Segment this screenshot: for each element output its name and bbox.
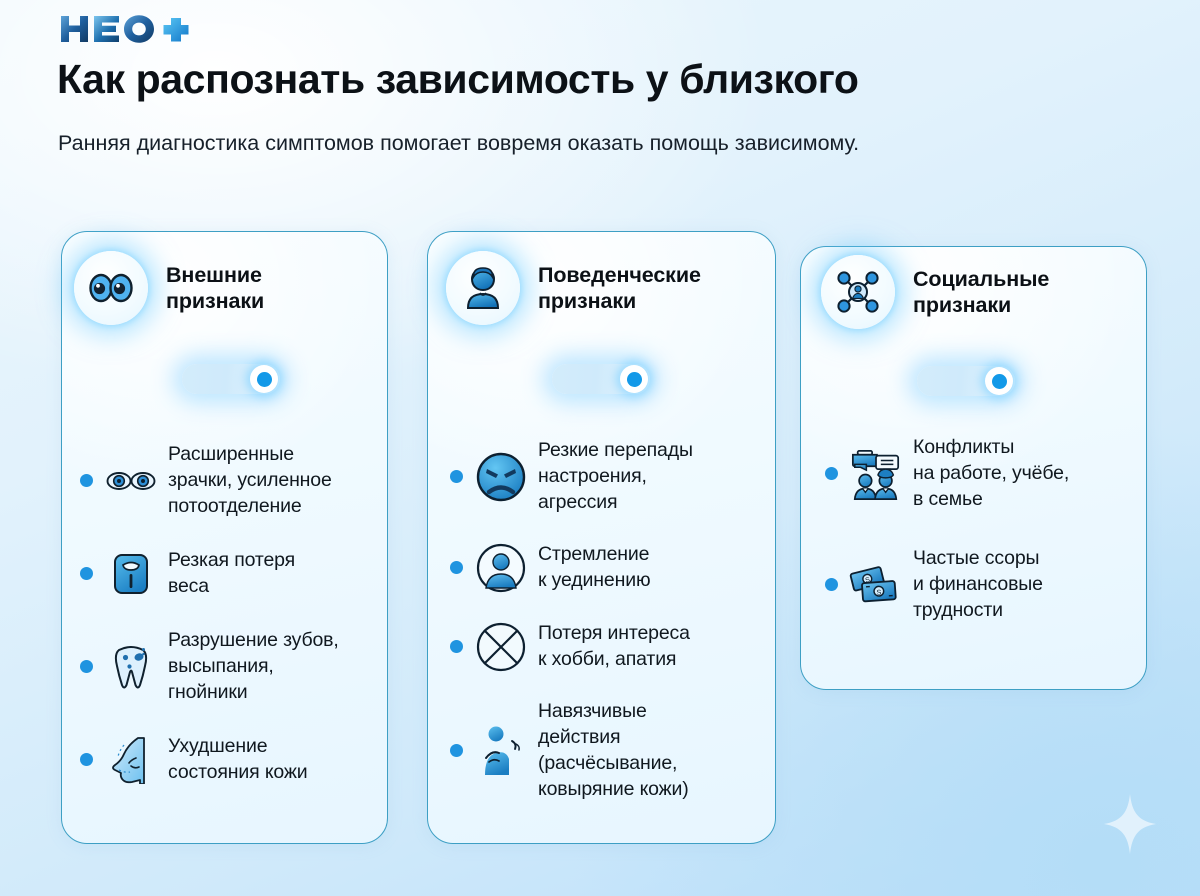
card-header: Внешние признаки: [74, 251, 264, 325]
list-item-text: Разрушение зубов, высыпания, гнойники: [168, 628, 339, 706]
card-external-signs: Внешние признаки Расширенные зрачки, уси…: [61, 231, 388, 844]
bullet-dot: [80, 660, 93, 673]
brand-logo: [59, 14, 195, 44]
svg-text:S: S: [876, 588, 882, 596]
list-item-text: Стремление к уединению: [538, 542, 650, 594]
card-header: Поведенческие признаки: [446, 251, 701, 325]
bullet-dot: [450, 640, 463, 653]
toggle-social-signs[interactable]: [917, 366, 1015, 396]
card-behavioral-signs: Поведенческие признаки Резкие перепады н…: [427, 231, 776, 844]
tooth-decay-icon: [104, 640, 158, 694]
toggle-knob: [620, 365, 648, 393]
list-item: S S Частые ссоры и финансовые трудности: [801, 546, 1146, 624]
list-item-text: Потеря интереса к хобби, апатия: [538, 621, 690, 673]
eyes-icon: [74, 251, 148, 325]
four-point-star-icon: [1102, 792, 1158, 861]
face-skin-icon: [104, 733, 158, 787]
list-item: Ухудшение состояния кожи: [62, 733, 387, 787]
page-title: Как распознать зависимость у близкого: [57, 57, 1147, 103]
list-item: Навязчивые действия (расчёсывание, ковыр…: [428, 699, 775, 803]
bullet-dot: [825, 467, 838, 480]
symptom-list: Резкие перепады настроения, агрессия Стр…: [428, 438, 775, 827]
list-item-text: Расширенные зрачки, усиленное потоотделе…: [168, 442, 332, 520]
list-item: Стремление к уединению: [428, 541, 775, 595]
card-header: Социальные признаки: [821, 255, 1049, 329]
bullet-dot: [80, 753, 93, 766]
person-avatar-icon: [446, 251, 520, 325]
list-item-text: Частые ссоры и финансовые трудности: [913, 546, 1043, 624]
card-title: Поведенческие признаки: [538, 262, 701, 314]
symptom-list: Расширенные зрачки, усиленное потоотделе…: [62, 442, 387, 814]
person-circle-icon: [474, 541, 528, 595]
card-title: Социальные признаки: [913, 266, 1049, 318]
bullet-dot: [450, 561, 463, 574]
toggle-behavioral-signs[interactable]: [552, 364, 650, 394]
workplace-conflict-icon: [849, 447, 903, 501]
bullet-dot: [450, 470, 463, 483]
list-item-text: Резкая потеря веса: [168, 548, 295, 600]
list-item-text: Навязчивые действия (расчёсывание, ковыр…: [538, 699, 689, 803]
bullet-dot: [80, 474, 93, 487]
list-item-text: Ухудшение состояния кожи: [168, 734, 308, 786]
bullet-dot: [80, 567, 93, 580]
toggle-external-signs[interactable]: [182, 364, 280, 394]
list-item: Потеря интереса к хобби, апатия: [428, 620, 775, 674]
card-social-signs: Социальные признаки: [800, 246, 1147, 690]
toggle-knob: [250, 365, 278, 393]
list-item-text: Конфликты на работе, учёбе, в семье: [913, 435, 1069, 513]
bullet-dot: [825, 578, 838, 591]
list-item: Разрушение зубов, высыпания, гнойники: [62, 628, 387, 706]
toggle-knob: [985, 367, 1013, 395]
card-title: Внешние признаки: [166, 262, 264, 314]
angry-face-icon: [474, 450, 528, 504]
list-item-text: Резкие перепады настроения, агрессия: [538, 438, 693, 516]
list-item: Конфликты на работе, учёбе, в семье: [801, 435, 1146, 513]
money-banknotes-icon: S S: [849, 558, 903, 612]
list-item: Резкие перепады настроения, агрессия: [428, 438, 775, 516]
crossed-circle-icon: [474, 620, 528, 674]
symptom-list: Конфликты на работе, учёбе, в семье S: [801, 435, 1146, 657]
weight-scale-icon: [104, 547, 158, 601]
list-item: Резкая потеря веса: [62, 547, 387, 601]
scratching-person-icon: [474, 724, 528, 778]
network-person-icon: [821, 255, 895, 329]
dilated-pupils-icon: [104, 454, 158, 508]
list-item: Расширенные зрачки, усиленное потоотделе…: [62, 442, 387, 520]
bullet-dot: [450, 744, 463, 757]
page-subtitle: Ранняя диагностика симптомов помогает во…: [58, 128, 978, 160]
